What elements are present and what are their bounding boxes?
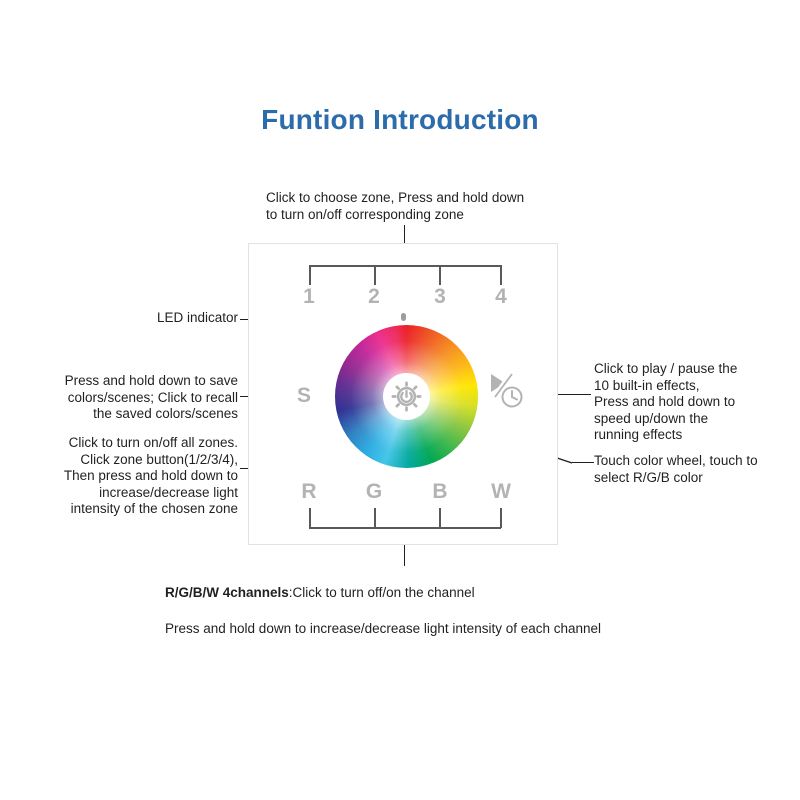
channel-bracket-riser-g — [374, 508, 376, 528]
callout-channels-rest: :Click to turn off/on the channel — [289, 585, 475, 600]
zone-bracket-riser-1 — [309, 265, 311, 285]
zone-bracket-bar — [309, 265, 501, 267]
zone-bracket-riser-4 — [500, 265, 502, 285]
channel-button-w[interactable]: W — [488, 479, 514, 505]
power-brightness-gear-icon[interactable] — [391, 381, 422, 412]
led-dot-icon — [401, 313, 406, 321]
callout-zones-top: Click to choose zone, Press and hold dow… — [266, 190, 566, 223]
channel-button-g[interactable]: G — [361, 479, 387, 505]
callout-channels-line2: Press and hold down to increase/decrease… — [165, 620, 665, 638]
callout-led-indicator: LED indicator — [40, 310, 238, 327]
callout-color-wheel: Touch color wheel, touch to select R/G/B… — [594, 453, 800, 486]
leader-line-wheel — [572, 462, 594, 463]
diagram-canvas: Funtion Introduction Click to choose zon… — [0, 0, 800, 800]
callout-save-scenes: Press and hold down to save colors/scene… — [22, 373, 238, 423]
zone-button-4[interactable]: 4 — [488, 284, 514, 310]
channel-button-b[interactable]: B — [427, 479, 453, 505]
page-title: Funtion Introduction — [0, 104, 800, 136]
zone-bracket-riser-2 — [374, 265, 376, 285]
callout-all-zones: Click to turn on/off all zones. Click zo… — [22, 435, 238, 518]
channel-bracket-bar — [309, 527, 501, 529]
callout-channels-line1: R/G/B/W 4channels:Click to turn off/on t… — [165, 584, 665, 602]
channel-button-r[interactable]: R — [296, 479, 322, 505]
zone-bracket-riser-3 — [439, 265, 441, 285]
color-wheel[interactable] — [335, 325, 478, 468]
channel-bracket-riser-w — [500, 508, 502, 528]
callout-channels: R/G/B/W 4channels:Click to turn off/on t… — [165, 566, 665, 656]
callout-channels-bold: R/G/B/W 4channels — [165, 585, 289, 600]
channel-bracket-riser-r — [309, 508, 311, 528]
play-clock-icon[interactable] — [487, 370, 527, 410]
save-button[interactable]: S — [291, 383, 317, 409]
zone-button-2[interactable]: 2 — [361, 284, 387, 310]
zone-button-1[interactable]: 1 — [296, 284, 322, 310]
zone-button-3[interactable]: 3 — [427, 284, 453, 310]
channel-bracket-riser-b — [439, 508, 441, 528]
callout-effects: Click to play / pause the 10 built-in ef… — [594, 361, 800, 444]
